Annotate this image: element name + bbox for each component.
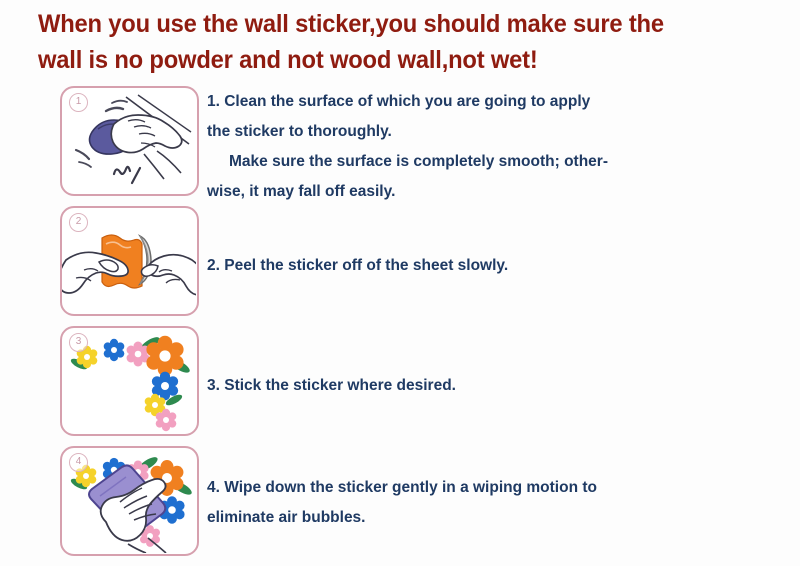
step-line: 4. Wipe down the sticker gently in a wip… — [207, 473, 800, 503]
page-title-line-1: When you use the wall sticker,you should… — [38, 6, 722, 42]
step-text-3: 3. Stick the sticker where desired. — [207, 326, 800, 401]
step-illustration-panel-3: 3 — [60, 326, 199, 436]
step-illustration-panel-4: 4 — [60, 446, 199, 556]
page-title: When you use the wall sticker,you should… — [38, 6, 758, 78]
step-line: 1. Clean the surface of which you are go… — [207, 87, 800, 117]
step-row: 2 2. Peel the sticker off — [0, 206, 800, 316]
step-line: 3. Stick the sticker where desired. — [207, 371, 800, 401]
step-row: 4 — [0, 446, 800, 556]
step-row: 1 — [0, 86, 800, 207]
step-line: eliminate air bubbles. — [207, 503, 800, 533]
step-line: 2. Peel the sticker off of the sheet slo… — [207, 251, 800, 281]
page-title-line-2: wall is no powder and not wood wall,not … — [38, 42, 722, 78]
step-text-4: 4. Wipe down the sticker gently in a wip… — [207, 446, 800, 533]
step-illustration-panel-1: 1 — [60, 86, 199, 196]
step-text-1: 1. Clean the surface of which you are go… — [207, 86, 800, 207]
step-badge-1: 1 — [69, 93, 88, 112]
step-badge-4: 4 — [69, 453, 88, 472]
step-text-2: 2. Peel the sticker off of the sheet slo… — [207, 206, 800, 281]
step-illustration-panel-2: 2 — [60, 206, 199, 316]
step-row: 3 — [0, 326, 800, 436]
step-line: wise, it may fall off easily. — [207, 177, 800, 207]
step-badge-2: 2 — [69, 213, 88, 232]
step-line: the sticker to thoroughly. — [207, 117, 800, 147]
step-line: Make sure the surface is completely smoo… — [207, 147, 800, 177]
step-badge-3: 3 — [69, 333, 88, 352]
